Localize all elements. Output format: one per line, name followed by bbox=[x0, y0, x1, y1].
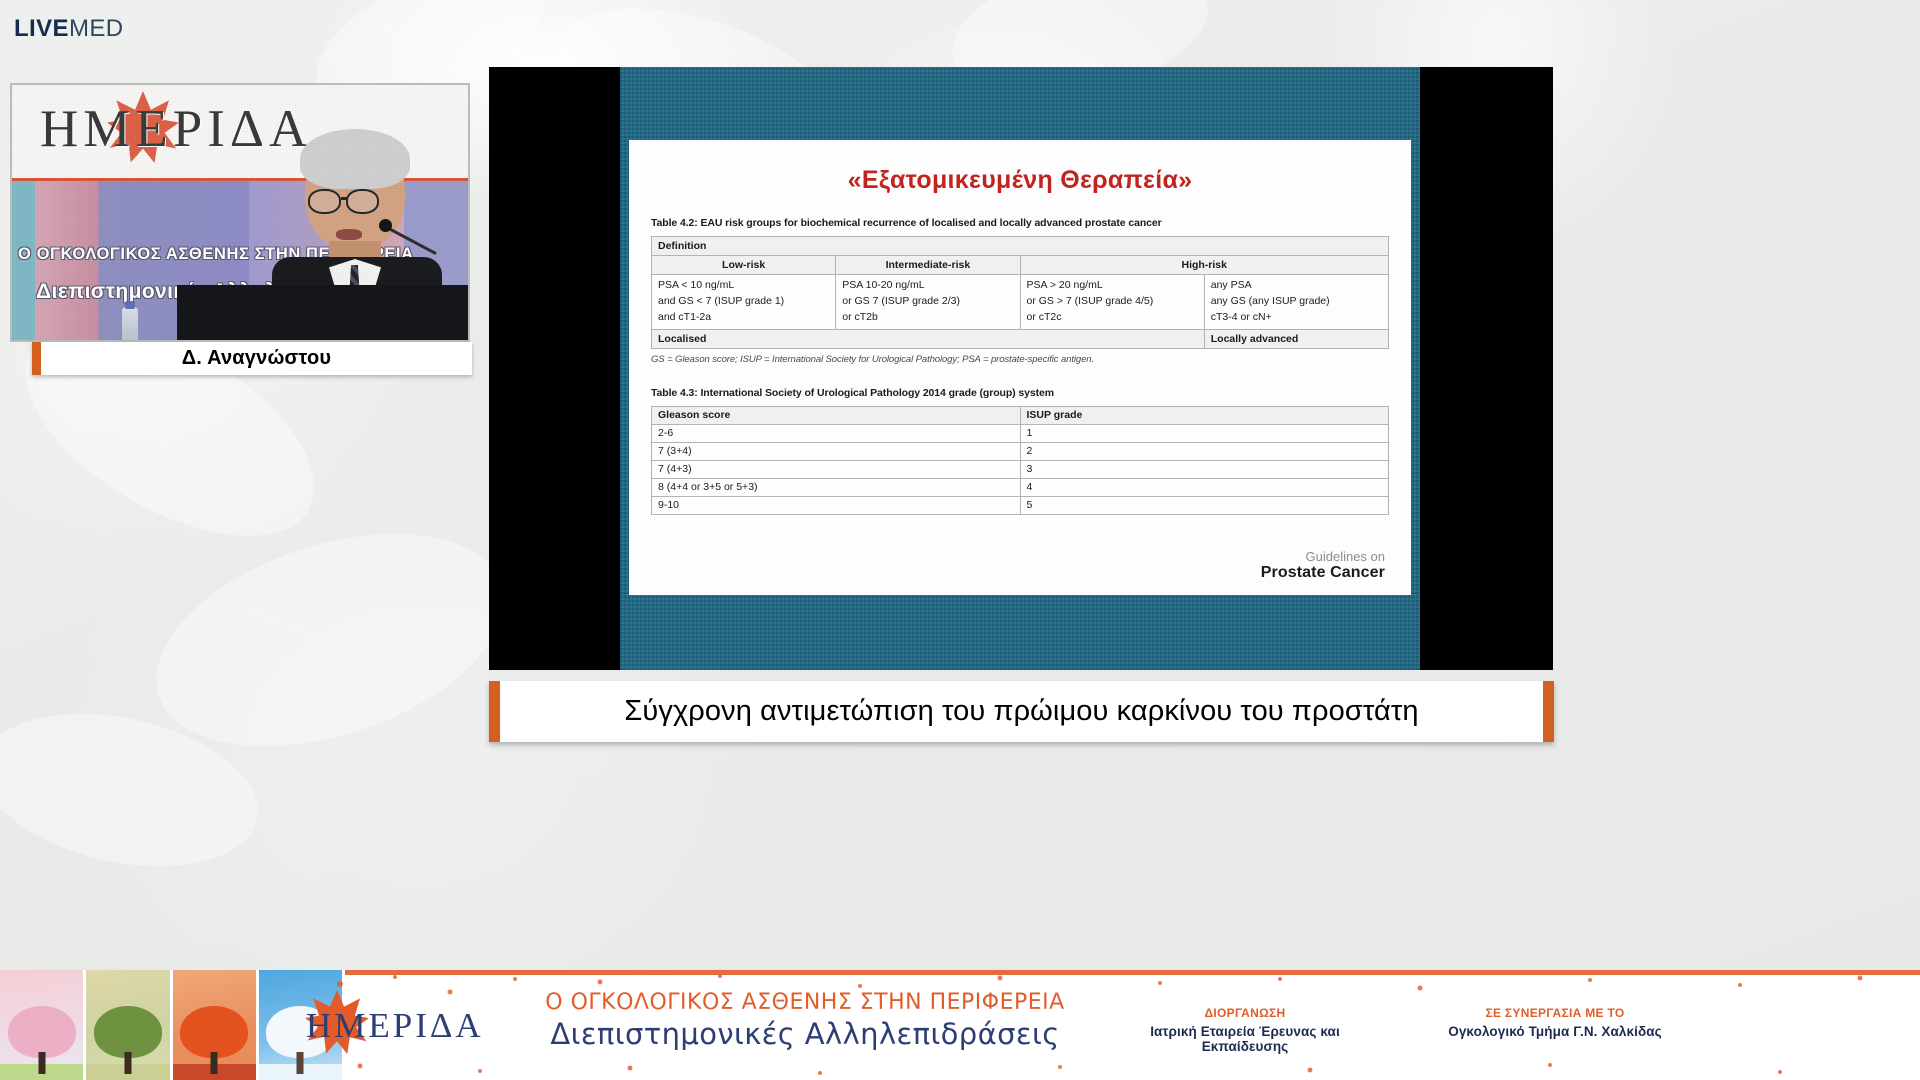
eyeglasses-right-lens bbox=[346, 189, 379, 214]
speaker-video-thumbnail[interactable]: ΗΜΕΡΙΔΑ Ο ΟΓΚΟΛΟΓΙΚΟΣ ΑΣΘΕΝΗΣ ΣΤΗΝ ΠΕΡΙΦ… bbox=[10, 83, 470, 342]
livemed-logo[interactable]: LIVEMED bbox=[14, 17, 124, 41]
table-43-wrapper: Table 4.3: International Society of Urol… bbox=[651, 387, 1389, 515]
table-42-cell-intermediate: PSA 10-20 ng/mL or GS 7 (ISUP grade 2/3)… bbox=[836, 275, 1020, 330]
season-autumn-image bbox=[173, 970, 259, 1080]
logo-text-light: MED bbox=[69, 15, 124, 42]
partner-heading: ΣΕ ΣΥΝΕΡΓΑΣΙΑ ΜΕ ΤΟ bbox=[1400, 1006, 1710, 1020]
table-43-cell-score: 2-6 bbox=[652, 424, 1021, 442]
slide-canvas: «Εξατομικευμένη Θεραπεία» Table 4.2: EAU… bbox=[620, 67, 1420, 670]
table-row: 9-10 5 bbox=[652, 496, 1389, 514]
table-43: Gleason score ISUP grade 2-6 1 7 (3+4) 2… bbox=[651, 406, 1389, 515]
partner-credit: ΣΕ ΣΥΝΕΡΓΑΣΙΑ ΜΕ ΤΟ Ογκολογικό Τμήμα Γ.Ν… bbox=[1400, 1006, 1710, 1039]
table-42-cell-high-a: PSA > 20 ng/mL or GS > 7 (ISUP grade 4/5… bbox=[1020, 275, 1204, 330]
season-summer-image bbox=[86, 970, 172, 1080]
session-title: Σύγχρονη αντιμετώπιση του πρώιμου καρκίν… bbox=[624, 695, 1418, 728]
footer-logo-word: ΗΜΕΡΙΔΑ bbox=[306, 1006, 484, 1046]
organiser-heading: ΔΙΟΡΓΑΝΩΣΗ bbox=[1105, 1006, 1385, 1020]
table-43-header-gleason: Gleason score bbox=[652, 406, 1021, 424]
table-43-cell-score: 7 (3+4) bbox=[652, 442, 1021, 460]
table-43-caption: Table 4.3: International Society of Urol… bbox=[651, 387, 1389, 399]
table-43-cell-grade: 5 bbox=[1020, 496, 1389, 514]
event-footer: ΗΜΕΡΙΔΑ Ο ΟΓΚΟΛΟΓΙΚΟΣ ΑΣΘΕΝΗΣ ΣΤΗΝ ΠΕΡΙΦ… bbox=[0, 970, 1920, 1080]
table-row: 7 (3+4) 2 bbox=[652, 442, 1389, 460]
slide-content-area: «Εξατομικευμένη Θεραπεία» Table 4.2: EAU… bbox=[629, 140, 1411, 595]
guidelines-attribution: Guidelines on Prostate Cancer bbox=[1261, 549, 1385, 583]
footer-hmerida-logo: ΗΜΕΡΙΔΑ bbox=[300, 994, 500, 1064]
table-43-cell-score: 7 (4+3) bbox=[652, 460, 1021, 478]
table-43-cell-grade: 4 bbox=[1020, 478, 1389, 496]
season-spring-image bbox=[0, 970, 86, 1080]
session-title-bar: Σύγχρονη αντιμετώπιση του πρώιμου καρκίν… bbox=[489, 681, 1554, 742]
table-42-note: GS = Gleason score; ISUP = International… bbox=[651, 354, 1389, 365]
table-43-cell-grade: 2 bbox=[1020, 442, 1389, 460]
footer-accent-bar bbox=[300, 970, 1920, 975]
table-42-definition-label: Definition bbox=[652, 237, 1389, 256]
organiser-name: Ιατρική Εταιρεία Έρευνας και Εκπαίδευσης bbox=[1105, 1024, 1385, 1054]
table-43-cell-score: 9-10 bbox=[652, 496, 1021, 514]
table-row: 8 (4+4 or 3+5 or 5+3) 4 bbox=[652, 478, 1389, 496]
eyeglasses-left-lens bbox=[308, 189, 341, 214]
table-43-cell-score: 8 (4+4 or 3+5 or 5+3) bbox=[652, 478, 1021, 496]
table-42: Definition Low-risk Intermediate-risk Hi… bbox=[651, 236, 1389, 349]
table-row: Low-risk Intermediate-risk High-risk bbox=[652, 256, 1389, 275]
logo-text-bold: LIVE bbox=[14, 15, 69, 42]
guidelines-line-2: Prostate Cancer bbox=[1261, 564, 1385, 583]
speaker-name: Δ. Αναγνώστου bbox=[182, 347, 332, 370]
seasons-image-strip bbox=[0, 970, 345, 1080]
table-42-footer-localised: Localised bbox=[652, 329, 1205, 348]
table-row: 2-6 1 bbox=[652, 424, 1389, 442]
microphone-arm bbox=[384, 225, 437, 255]
slide-stage[interactable]: «Εξατομικευμένη Θεραπεία» Table 4.2: EAU… bbox=[489, 67, 1553, 670]
microphone-icon bbox=[379, 219, 392, 232]
table-42-header-low: Low-risk bbox=[652, 256, 836, 275]
table-42-header-high: High-risk bbox=[1020, 256, 1389, 275]
table-43-header-isup: ISUP grade bbox=[1020, 406, 1389, 424]
slide-title: «Εξατομικευμένη Θεραπεία» bbox=[651, 166, 1389, 195]
organiser-credit: ΔΙΟΡΓΑΝΩΣΗ Ιατρική Εταιρεία Έρευνας και … bbox=[1105, 1006, 1385, 1054]
table-row: PSA < 10 ng/mL and GS < 7 (ISUP grade 1)… bbox=[652, 275, 1389, 330]
footer-tagline-top: Ο ΟΓΚΟΛΟΓΙΚΟΣ ΑΣΘΕΝΗΣ ΣΤΗΝ ΠΕΡΙΦΕΡΕΙΑ bbox=[520, 990, 1090, 1015]
podium-desk bbox=[177, 285, 470, 342]
table-43-cell-grade: 1 bbox=[1020, 424, 1389, 442]
guidelines-line-1: Guidelines on bbox=[1261, 549, 1385, 564]
table-42-footer-locally-advanced: Locally advanced bbox=[1204, 329, 1388, 348]
table-row: Gleason score ISUP grade bbox=[652, 406, 1389, 424]
table-42-caption: Table 4.2: EAU risk groups for biochemic… bbox=[651, 217, 1389, 229]
table-42-cell-high-b: any PSA any GS (any ISUP grade) cT3-4 or… bbox=[1204, 275, 1388, 330]
speaker-card[interactable]: ΗΜΕΡΙΔΑ Ο ΟΓΚΟΛΟΓΙΚΟΣ ΑΣΘΕΝΗΣ ΣΤΗΝ ΠΕΡΙΦ… bbox=[10, 83, 470, 342]
table-row: 7 (4+3) 3 bbox=[652, 460, 1389, 478]
table-43-cell-grade: 3 bbox=[1020, 460, 1389, 478]
speaker-name-bar: Δ. Αναγνώστου bbox=[32, 342, 472, 375]
table-42-cell-low: PSA < 10 ng/mL and GS < 7 (ISUP grade 1)… bbox=[652, 275, 836, 330]
footer-tagline: Ο ΟΓΚΟΛΟΓΙΚΟΣ ΑΣΘΕΝΗΣ ΣΤΗΝ ΠΕΡΙΦΕΡΕΙΑ Δι… bbox=[520, 990, 1090, 1051]
table-42-header-intermediate: Intermediate-risk bbox=[836, 256, 1020, 275]
water-bottle bbox=[122, 307, 138, 342]
table-row: Localised Locally advanced bbox=[652, 329, 1389, 348]
partner-name: Ογκολογικό Τμήμα Γ.Ν. Χαλκίδας bbox=[1400, 1024, 1710, 1039]
table-row: Definition bbox=[652, 237, 1389, 256]
footer-tagline-bottom: Διεπιστημονικές Αλληλεπιδράσεις bbox=[520, 1017, 1090, 1051]
